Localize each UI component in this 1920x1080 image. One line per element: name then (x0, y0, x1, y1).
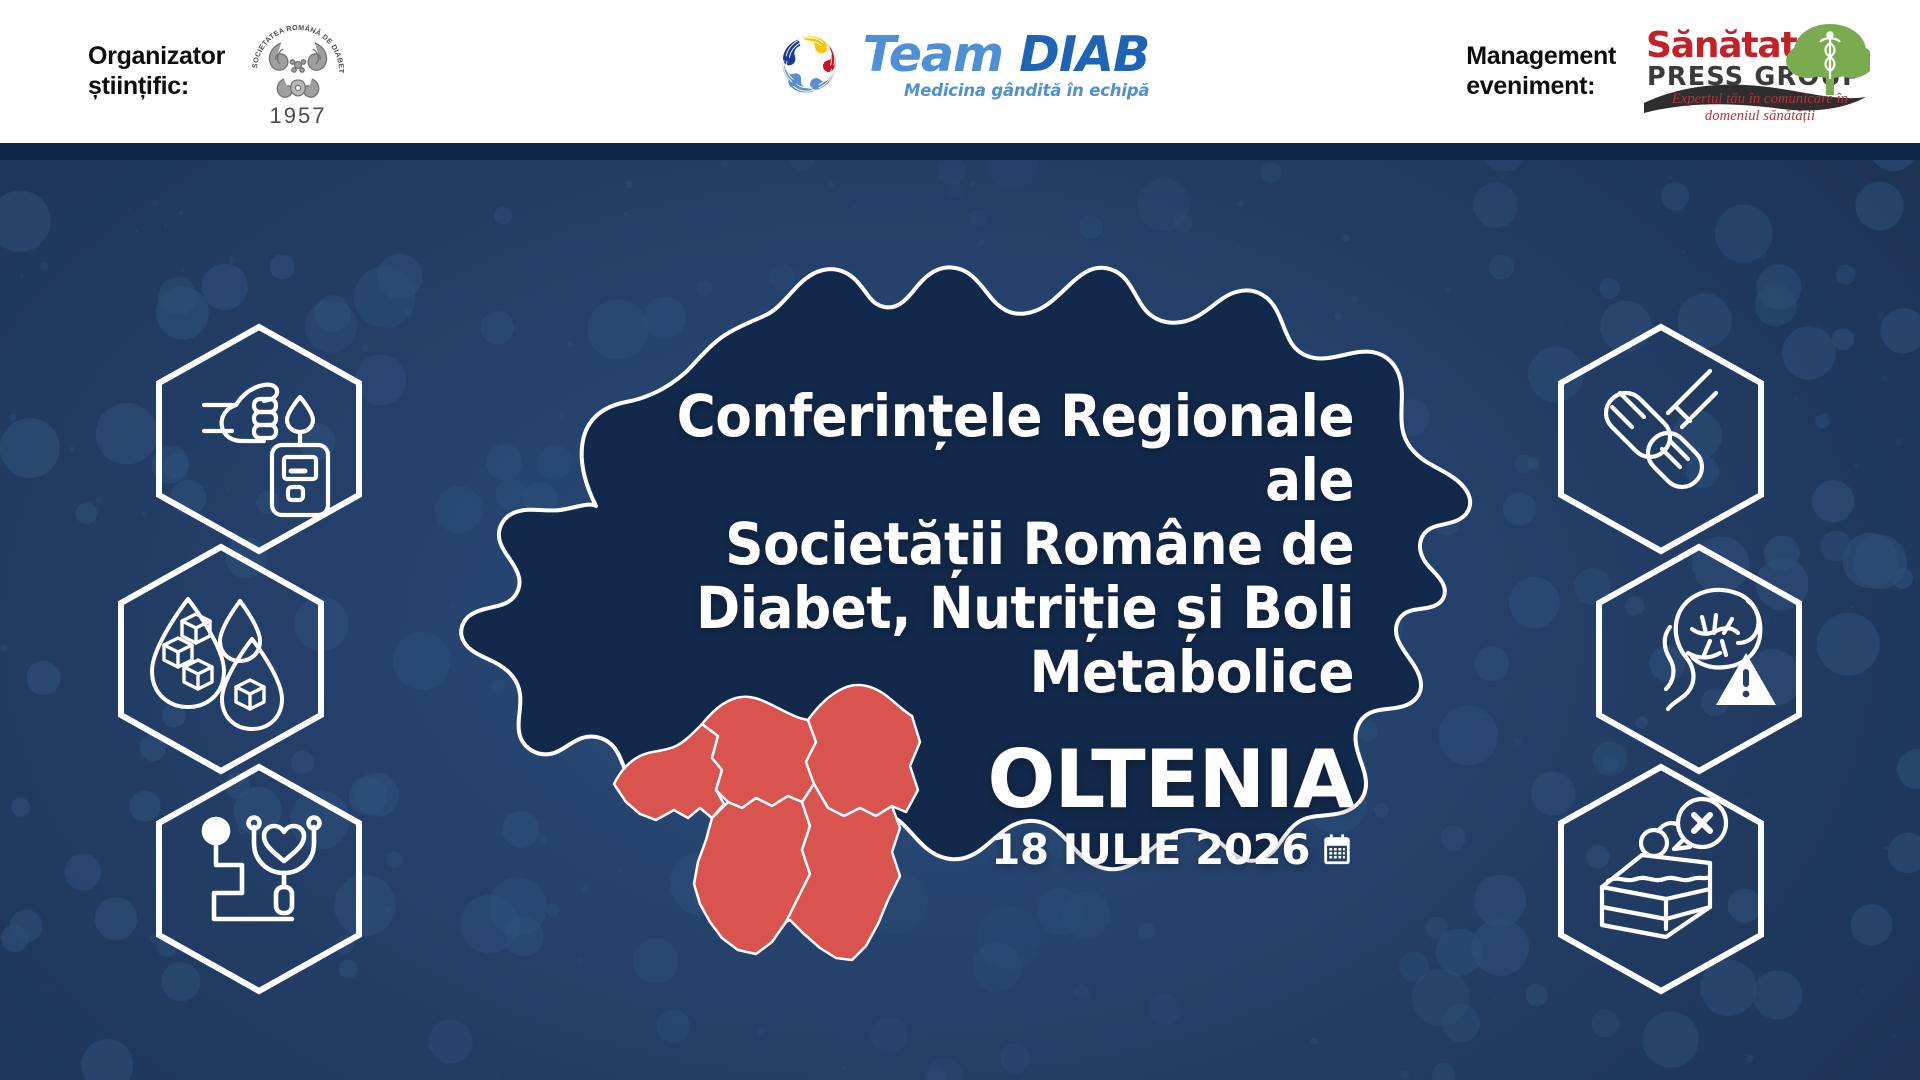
team-diab-name-diab: DIAB (1019, 26, 1149, 83)
srdnbm-year: 1957 (270, 103, 327, 129)
insulin-pen-injection-icon (1606, 371, 1716, 487)
hex-kidney-warning (1588, 541, 1810, 782)
spg-tagline: Expertul tău în comunicare în domeniul s… (1652, 91, 1868, 125)
organizer-group: Organizator științific: SOCIETATEA ROMÂN… (88, 0, 359, 143)
team-diab-wordmark: Team DIAB Medicina gândită în echipă (863, 31, 1150, 100)
blood-drops-sugar-cubes-icon (152, 599, 282, 729)
title-line-1: Conferințele Regionale ale (618, 384, 1354, 512)
hex-stethoscope-heart (148, 761, 370, 1002)
header-bar: Organizator științific: SOCIETATEA ROMÂN… (0, 0, 1920, 143)
title-line-4: Metabolice (618, 640, 1354, 704)
glucometer-finger-prick-icon (204, 385, 328, 515)
region-name: OLTENIA (554, 740, 1354, 820)
management-group: Management eveniment: Sănătatea PRESS GR… (1466, 0, 1870, 143)
poster-root: Organizator științific: SOCIETATEA ROMÂN… (0, 0, 1920, 1080)
event-date-row: 18 IULIE 2026 (554, 829, 1354, 871)
title-line-2: Societății Române de (618, 512, 1354, 576)
team-diab-logo: Team DIAB Medicina gândită în echipă (771, 27, 1150, 105)
calendar-icon (1320, 833, 1354, 867)
hex-glucometer-finger-prick (148, 321, 370, 562)
warning-triangle-icon (1716, 653, 1776, 705)
srdnbm-logo: SOCIETATEA ROMÂNĂ DE DIABET, NUTRIȚIE, B… (237, 13, 359, 131)
hex-blood-drops-sugar (110, 541, 332, 782)
stethoscope-heart-icon (204, 818, 320, 920)
team-diab-tagline: Medicina gândită în echipă (863, 81, 1150, 100)
title-block: Conferințele Regionale ale Societății Ro… (554, 384, 1354, 871)
management-label: Management eveniment: (1466, 42, 1616, 101)
team-diab-hands-icon (771, 27, 849, 105)
event-date: 18 IULIE 2026 (991, 829, 1310, 871)
organizer-label: Organizator științific: (88, 42, 225, 101)
team-diab-name-team: Team (863, 26, 1020, 83)
title-line-3: Diabet, Nutriție și Boli (618, 576, 1354, 640)
hex-insulin-pen (1550, 321, 1772, 562)
top-accent-strip (0, 143, 1920, 160)
main-panel: Conferințele Regionale ale Societății Ro… (0, 143, 1920, 1080)
cake-slice-forbidden-icon (1602, 799, 1726, 937)
hex-cake-forbidden (1550, 761, 1772, 1002)
sanatatea-press-group-logo: Sănătatea PRESS GROUP (1638, 21, 1870, 123)
event-title: Conferințele Regionale ale Societății Ro… (618, 384, 1354, 704)
